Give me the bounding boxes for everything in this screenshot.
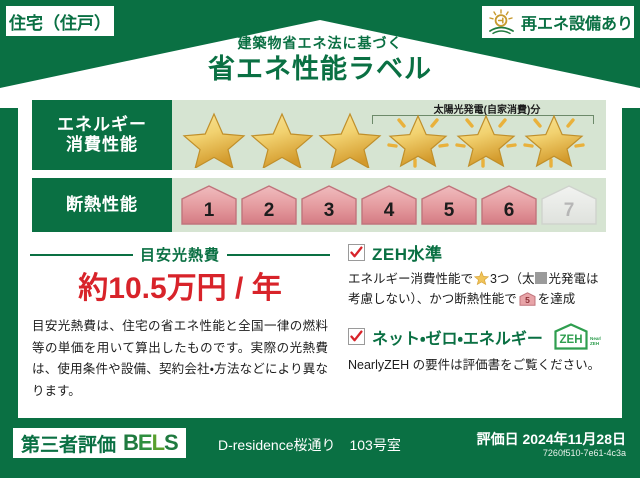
insulation-grade-house: 1 bbox=[180, 184, 238, 226]
insulation-grade-number: 1 bbox=[180, 200, 238, 222]
svg-text:ZEH: ZEH bbox=[559, 334, 582, 346]
divider-right bbox=[227, 254, 330, 256]
insulation-grade-number: 7 bbox=[540, 200, 598, 222]
evaluation-date: 評価日 2024年11月28日 bbox=[477, 429, 626, 449]
check-icon bbox=[350, 330, 363, 343]
insulation-grade-group: 1 2 3 bbox=[180, 184, 598, 226]
star-filled-solar bbox=[520, 106, 588, 168]
utility-cost-note: 目安光熱費は、住宅の省エネ性能と全国一律の燃料等の単価を用いて算出したものです。… bbox=[30, 316, 330, 402]
zeh-desc-part2: 光発電 bbox=[548, 272, 586, 286]
energy-label-line1: エネルギー bbox=[57, 115, 147, 135]
housing-type-badge: 住宅（住戸） bbox=[6, 6, 114, 36]
housing-type-badge-label: 住宅（住戸） bbox=[9, 9, 111, 34]
insulation-performance-row: 断熱性能 bbox=[32, 178, 606, 232]
insulation-grade-house: 2 bbox=[240, 184, 298, 226]
insulation-grade-house: 5 bbox=[420, 184, 478, 226]
inline-star-icon bbox=[474, 271, 489, 285]
insulation-grade-number: 3 bbox=[300, 200, 358, 222]
zeh-level-heading: ZEH水準 bbox=[348, 240, 610, 265]
evaluation-id: 7260f510-7e61-4c3a bbox=[543, 448, 626, 458]
zeh-logo-icon: ZEH Nearly ZEH bbox=[553, 322, 601, 352]
utility-cost-amount: 約10.5万円 / 年 bbox=[30, 272, 330, 305]
zeh-desc-star-count: 3つ（太 bbox=[490, 272, 534, 286]
star-filled-solar bbox=[384, 106, 452, 168]
insulation-performance-label: 断熱性能 bbox=[32, 178, 172, 232]
zeh-level-description: エネルギー消費性能で 3つ（太光発電は考慮しない）、かつ断熱性能で 5 を達成 bbox=[348, 269, 610, 313]
insulation-grade-panel: 1 2 3 bbox=[172, 178, 606, 232]
zeh-section: ZEH水準 エネルギー消費性能で 3つ（太光発電は考慮しない）、かつ断熱性能で … bbox=[348, 240, 610, 375]
bels-certification-badge: 第三者評価 BELS bbox=[13, 428, 186, 458]
star-filled bbox=[180, 106, 248, 168]
net-zero-title: ネット・ゼロ・エネルギー bbox=[372, 325, 543, 349]
insulation-grade-house-inactive: 7 bbox=[540, 184, 598, 226]
insulation-grade-number: 6 bbox=[480, 200, 538, 222]
label-body-panel: エネルギー 消費性能 太陽光発電(自家消費)分 bbox=[18, 96, 622, 418]
svg-text:ZEH: ZEH bbox=[590, 341, 600, 346]
insulation-grade-house: 3 bbox=[300, 184, 358, 226]
inline-insulation-grade-badge: 5 bbox=[519, 292, 536, 312]
redaction-block bbox=[535, 272, 547, 284]
bels-label-text: 第三者評価 bbox=[21, 430, 116, 457]
page-title: 省エネ性能ラベル bbox=[0, 53, 640, 85]
svg-text:5: 5 bbox=[525, 295, 530, 305]
insulation-label-text: 断熱性能 bbox=[66, 195, 138, 215]
insulation-grade-house: 4 bbox=[360, 184, 418, 226]
utility-cost-heading-row: 目安光熱費 bbox=[30, 244, 330, 265]
star-filled bbox=[316, 106, 384, 168]
label-footer: 第三者評価 BELS D-residence桜通り 103号室 評価日 2024… bbox=[0, 424, 640, 478]
zeh-level-title: ZEH水準 bbox=[372, 240, 443, 265]
zeh-level-checkbox bbox=[348, 244, 365, 261]
utility-cost-section: 目安光熱費 約10.5万円 / 年 目安光熱費は、住宅の省エネ性能と全国一律の燃… bbox=[30, 244, 330, 402]
insulation-grade-number: 2 bbox=[240, 200, 298, 222]
star-rating-group bbox=[180, 106, 588, 168]
zeh-desc-part1: エネルギー消費性能で bbox=[348, 272, 473, 286]
check-icon bbox=[350, 246, 363, 259]
star-filled-solar bbox=[452, 106, 520, 168]
energy-performance-row: エネルギー 消費性能 太陽光発電(自家消費)分 bbox=[32, 100, 606, 170]
title-block: 建築物省エネ法に基づく 省エネ性能ラベル bbox=[0, 36, 640, 86]
energy-performance-label: エネルギー 消費性能 bbox=[32, 100, 172, 170]
insulation-grade-number: 4 bbox=[360, 200, 418, 222]
energy-rating-stars-panel: 太陽光発電(自家消費)分 bbox=[172, 100, 606, 170]
title-subtitle: 建築物省エネ法に基づく bbox=[0, 36, 640, 51]
star-filled bbox=[248, 106, 316, 168]
insulation-grade-number: 5 bbox=[420, 200, 478, 222]
divider-left bbox=[30, 254, 133, 256]
zeh-desc-part4: を達成 bbox=[538, 292, 576, 306]
renewable-equipment-badge: 再エネ設備あり bbox=[482, 6, 634, 38]
utility-cost-heading: 目安光熱費 bbox=[140, 244, 220, 265]
bels-logo: BELS bbox=[123, 430, 178, 456]
net-zero-description: NearlyZEH の要件は評価書をご覧ください。 bbox=[348, 355, 610, 375]
sun-solar-icon bbox=[487, 9, 517, 35]
renewable-badge-label: 再エネ設備あり bbox=[521, 10, 633, 34]
building-name: D-residence桜通り 103号室 bbox=[218, 435, 401, 455]
insulation-grade-house: 6 bbox=[480, 184, 538, 226]
energy-performance-label: 建築物省エネ法に基づく 省エネ性能ラベル 住宅（住戸） 再エネ設備あり bbox=[0, 0, 640, 478]
energy-label-line2: 消費性能 bbox=[66, 135, 138, 155]
net-zero-checkbox bbox=[348, 328, 365, 345]
net-zero-energy-heading: ネット・ゼロ・エネルギー ZEH Nearly ZEH bbox=[348, 322, 610, 352]
